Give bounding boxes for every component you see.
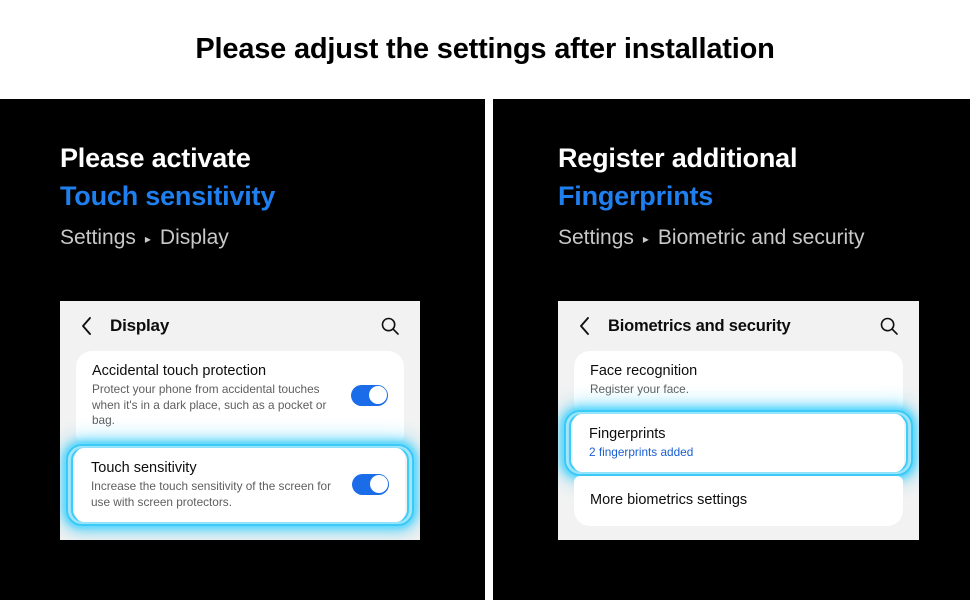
panel-right-heading-primary: Register additional: [558, 145, 970, 172]
phone-screenshot-display: Display Accidental touch protection Prot…: [60, 298, 420, 540]
panel-left-heading-primary: Please activate: [60, 145, 485, 172]
settings-card-face-recognition[interactable]: Face recognition Register your face.: [574, 351, 903, 410]
panel-right-heading-accent: Fingerprints: [558, 183, 970, 210]
panel-left-heading-accent: Touch sensitivity: [60, 183, 485, 210]
app-bar-title: Biometrics and security: [608, 317, 790, 336]
row-title: Face recognition: [590, 362, 887, 380]
list-item[interactable]: Face recognition Register your face.: [574, 351, 903, 410]
row-subtitle-count: 2 fingerprints added: [589, 445, 888, 461]
app-bar: Display: [60, 301, 420, 351]
search-icon[interactable]: [879, 316, 899, 336]
toggle-knob: [369, 386, 387, 404]
toggle-accidental-touch-protection[interactable]: [351, 385, 388, 406]
breadcrumb-arrow-icon: ▸: [145, 233, 151, 245]
highlight-fingerprints: Fingerprints 2 fingerprints added: [564, 410, 913, 477]
search-icon[interactable]: [380, 316, 400, 336]
row-title: Accidental touch protection: [92, 362, 339, 380]
back-chevron-icon[interactable]: [79, 315, 95, 337]
settings-card-fingerprints[interactable]: Fingerprints 2 fingerprints added: [573, 414, 904, 473]
row-text-group: Face recognition Register your face.: [590, 362, 887, 398]
list-item[interactable]: Accidental touch protection Protect your…: [76, 351, 404, 441]
list-item[interactable]: Fingerprints 2 fingerprints added: [573, 414, 904, 473]
app-bar-title: Display: [110, 316, 169, 336]
breadcrumb-root: Settings: [558, 226, 634, 250]
panel-left-content: Please activate Touch sensitivity Settin…: [0, 99, 485, 250]
list-item[interactable]: More biometrics settings: [574, 476, 903, 525]
row-title: More biometrics settings: [590, 491, 887, 509]
settings-card-accidental-touch[interactable]: Accidental touch protection Protect your…: [76, 351, 404, 441]
phone-screenshot-biometrics: Biometrics and security Face recognition…: [558, 298, 919, 540]
row-subtitle: Protect your phone from accidental touch…: [92, 382, 339, 429]
breadcrumb: Settings ▸ Display: [60, 226, 485, 250]
highlight-touch-sensitivity: Touch sensitivity Increase the touch sen…: [66, 444, 414, 526]
panel-touch-sensitivity: Please activate Touch sensitivity Settin…: [0, 99, 485, 600]
breadcrumb-arrow-icon: ▸: [643, 233, 649, 245]
breadcrumb: Settings ▸ Biometric and security: [558, 226, 970, 250]
app-bar: Biometrics and security: [558, 301, 919, 351]
row-title: Touch sensitivity: [91, 459, 340, 477]
breadcrumb-root: Settings: [60, 226, 136, 250]
row-text-group: More biometrics settings: [590, 491, 887, 509]
settings-card-more-biometrics[interactable]: More biometrics settings: [574, 476, 903, 525]
panel-right-content: Register additional Fingerprints Setting…: [493, 99, 970, 250]
page-title: Please adjust the settings after install…: [195, 33, 774, 66]
toggle-knob: [370, 475, 388, 493]
breadcrumb-leaf: Biometric and security: [658, 226, 865, 250]
row-text-group: Touch sensitivity Increase the touch sen…: [91, 459, 340, 510]
list-item[interactable]: Touch sensitivity Increase the touch sen…: [75, 448, 405, 522]
panel-fingerprints: Register additional Fingerprints Setting…: [493, 99, 970, 600]
row-text-group: Fingerprints 2 fingerprints added: [589, 425, 888, 461]
breadcrumb-leaf: Display: [160, 226, 229, 250]
row-title: Fingerprints: [589, 425, 888, 443]
panels-container: Please activate Touch sensitivity Settin…: [0, 99, 970, 600]
row-subtitle: Register your face.: [590, 382, 887, 398]
settings-card-touch-sensitivity[interactable]: Touch sensitivity Increase the touch sen…: [75, 448, 405, 522]
page-header: Please adjust the settings after install…: [0, 0, 970, 99]
row-text-group: Accidental touch protection Protect your…: [92, 362, 339, 429]
back-chevron-icon[interactable]: [577, 315, 593, 337]
toggle-touch-sensitivity[interactable]: [352, 474, 389, 495]
row-subtitle: Increase the touch sensitivity of the sc…: [91, 479, 340, 510]
panel-divider: [485, 99, 493, 600]
